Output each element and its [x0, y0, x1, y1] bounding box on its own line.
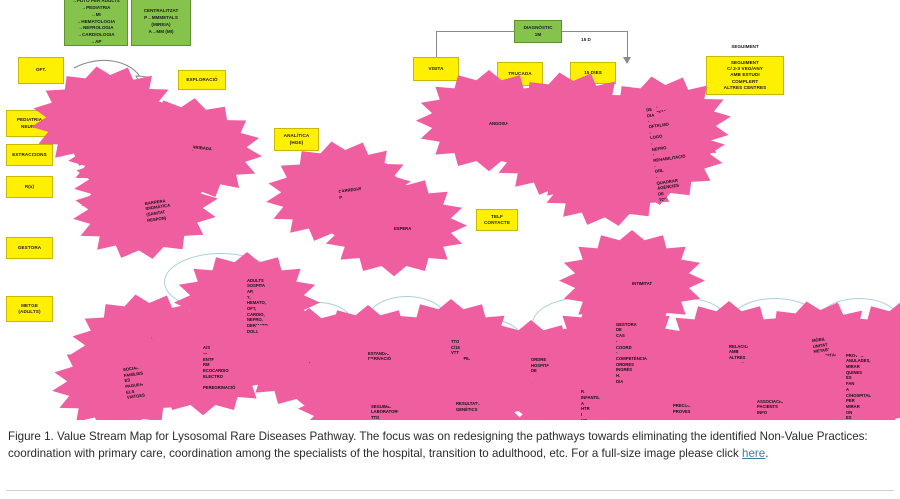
- burst-carregues-plurals-text: CÀRREGUES PLURALS: [338, 189, 340, 200]
- box-gestora[interactable]: GESTORA: [6, 237, 53, 259]
- caption-suffix: .: [765, 447, 768, 460]
- caption-divider: [6, 490, 894, 491]
- box-rx[interactable]: R(x): [6, 176, 53, 198]
- box-seguiment[interactable]: SEGUIMENT C/ 2-3 VEG/ANY AMB ESTUDI COMP…: [706, 56, 784, 95]
- box-exploracio[interactable]: EXPLORACIÓ: [178, 70, 226, 90]
- box-analitica-text: ANALÍTICA (HGE): [284, 133, 310, 145]
- box-metge-adults[interactable]: METGE (ADULTS): [6, 296, 53, 322]
- green-box-centralized: CENTRALITZAT P→MMMETALS (MIREIA) A→MM (M…: [131, 0, 191, 46]
- value-stream-map-canvas: →PDTO PER ADULTS →PEDIATRIA →MI →HEMATOL…: [0, 0, 900, 420]
- box-telf-contacte-text: TELF CONTACTE: [484, 214, 510, 226]
- arrow-to-15-dies: [623, 57, 631, 64]
- burst-barrera-idiomatica-text: BARRERA IDIOMÀTICA (SANITAT RESPON): [144, 201, 147, 223]
- green-box-derivation-list-text: →PDTO PER ADULTS →PEDIATRIA →MI →HEMATOL…: [72, 0, 119, 46]
- label-seguiment-heading: SEGUIMENT: [705, 44, 785, 49]
- green-box-derivation-list: →PDTO PER ADULTS →PEDIATRIA →MI →HEMATOL…: [64, 0, 128, 46]
- box-extraccions-text: EXTRACCIONS: [12, 152, 47, 158]
- label-15-d: 15 D: [573, 37, 599, 42]
- figure-caption: Figure 1. Value Stream Map for Lysosomal…: [0, 420, 900, 499]
- connector-diagnostic-left: [436, 31, 514, 32]
- box-exploracio-text: EXPLORACIÓ: [186, 77, 217, 83]
- box-visita[interactable]: VISITA: [413, 57, 459, 81]
- caption-prefix: Figure 1. Value Stream Map for Lysosomal…: [8, 430, 868, 460]
- green-box-diagnostic: DIAGNÒSTIC 1M: [514, 20, 562, 43]
- box-visita-text: VISITA: [428, 66, 443, 72]
- box-15-dies-text: 15 DIES: [584, 70, 602, 76]
- box-oft[interactable]: OFT.: [18, 57, 64, 84]
- green-box-diagnostic-text: DIAGNÒSTIC 1M: [524, 25, 553, 39]
- box-analitica[interactable]: ANALÍTICA (HGE): [274, 128, 319, 151]
- box-extraccions[interactable]: EXTRACCIONS: [6, 144, 53, 166]
- connector-diagnostic-right: [562, 31, 627, 32]
- box-rx-text: R(x): [25, 184, 34, 190]
- connector-visita-drop: [436, 31, 437, 57]
- burst-social-families-viatges-text: SOCIAL: FAMÍLIES ES PAGUEN ELS VIATGES: [123, 367, 128, 401]
- box-gestora-text: GESTORA: [18, 245, 41, 251]
- connector-15dies-drop: [627, 31, 628, 58]
- burst-hospital-de-dia-especialitats-text: -? DE DIA -OFTALMO -LOGO -NEFRO -REHABIL…: [645, 102, 661, 214]
- label-seguiment-heading-text: SEGUIMENT: [731, 44, 758, 49]
- box-oft-text: OFT.: [36, 67, 46, 73]
- green-box-centralized-text: CENTRALITZAT P→MMMETALS (MIREIA) A→MM (M…: [144, 8, 179, 36]
- box-metge-adults-text: METGE (ADULTS): [18, 303, 40, 315]
- label-15-d-text: 15 D: [581, 37, 591, 42]
- box-seguiment-text: SEGUIMENT C/ 2-3 VEG/ANY AMB ESTUDI COMP…: [724, 60, 767, 91]
- box-telf-contacte[interactable]: TELF CONTACTE: [476, 209, 518, 231]
- caption-link-here[interactable]: here: [742, 447, 765, 460]
- figure-page: →PDTO PER ADULTS →PEDIATRIA →MI →HEMATOL…: [0, 0, 900, 499]
